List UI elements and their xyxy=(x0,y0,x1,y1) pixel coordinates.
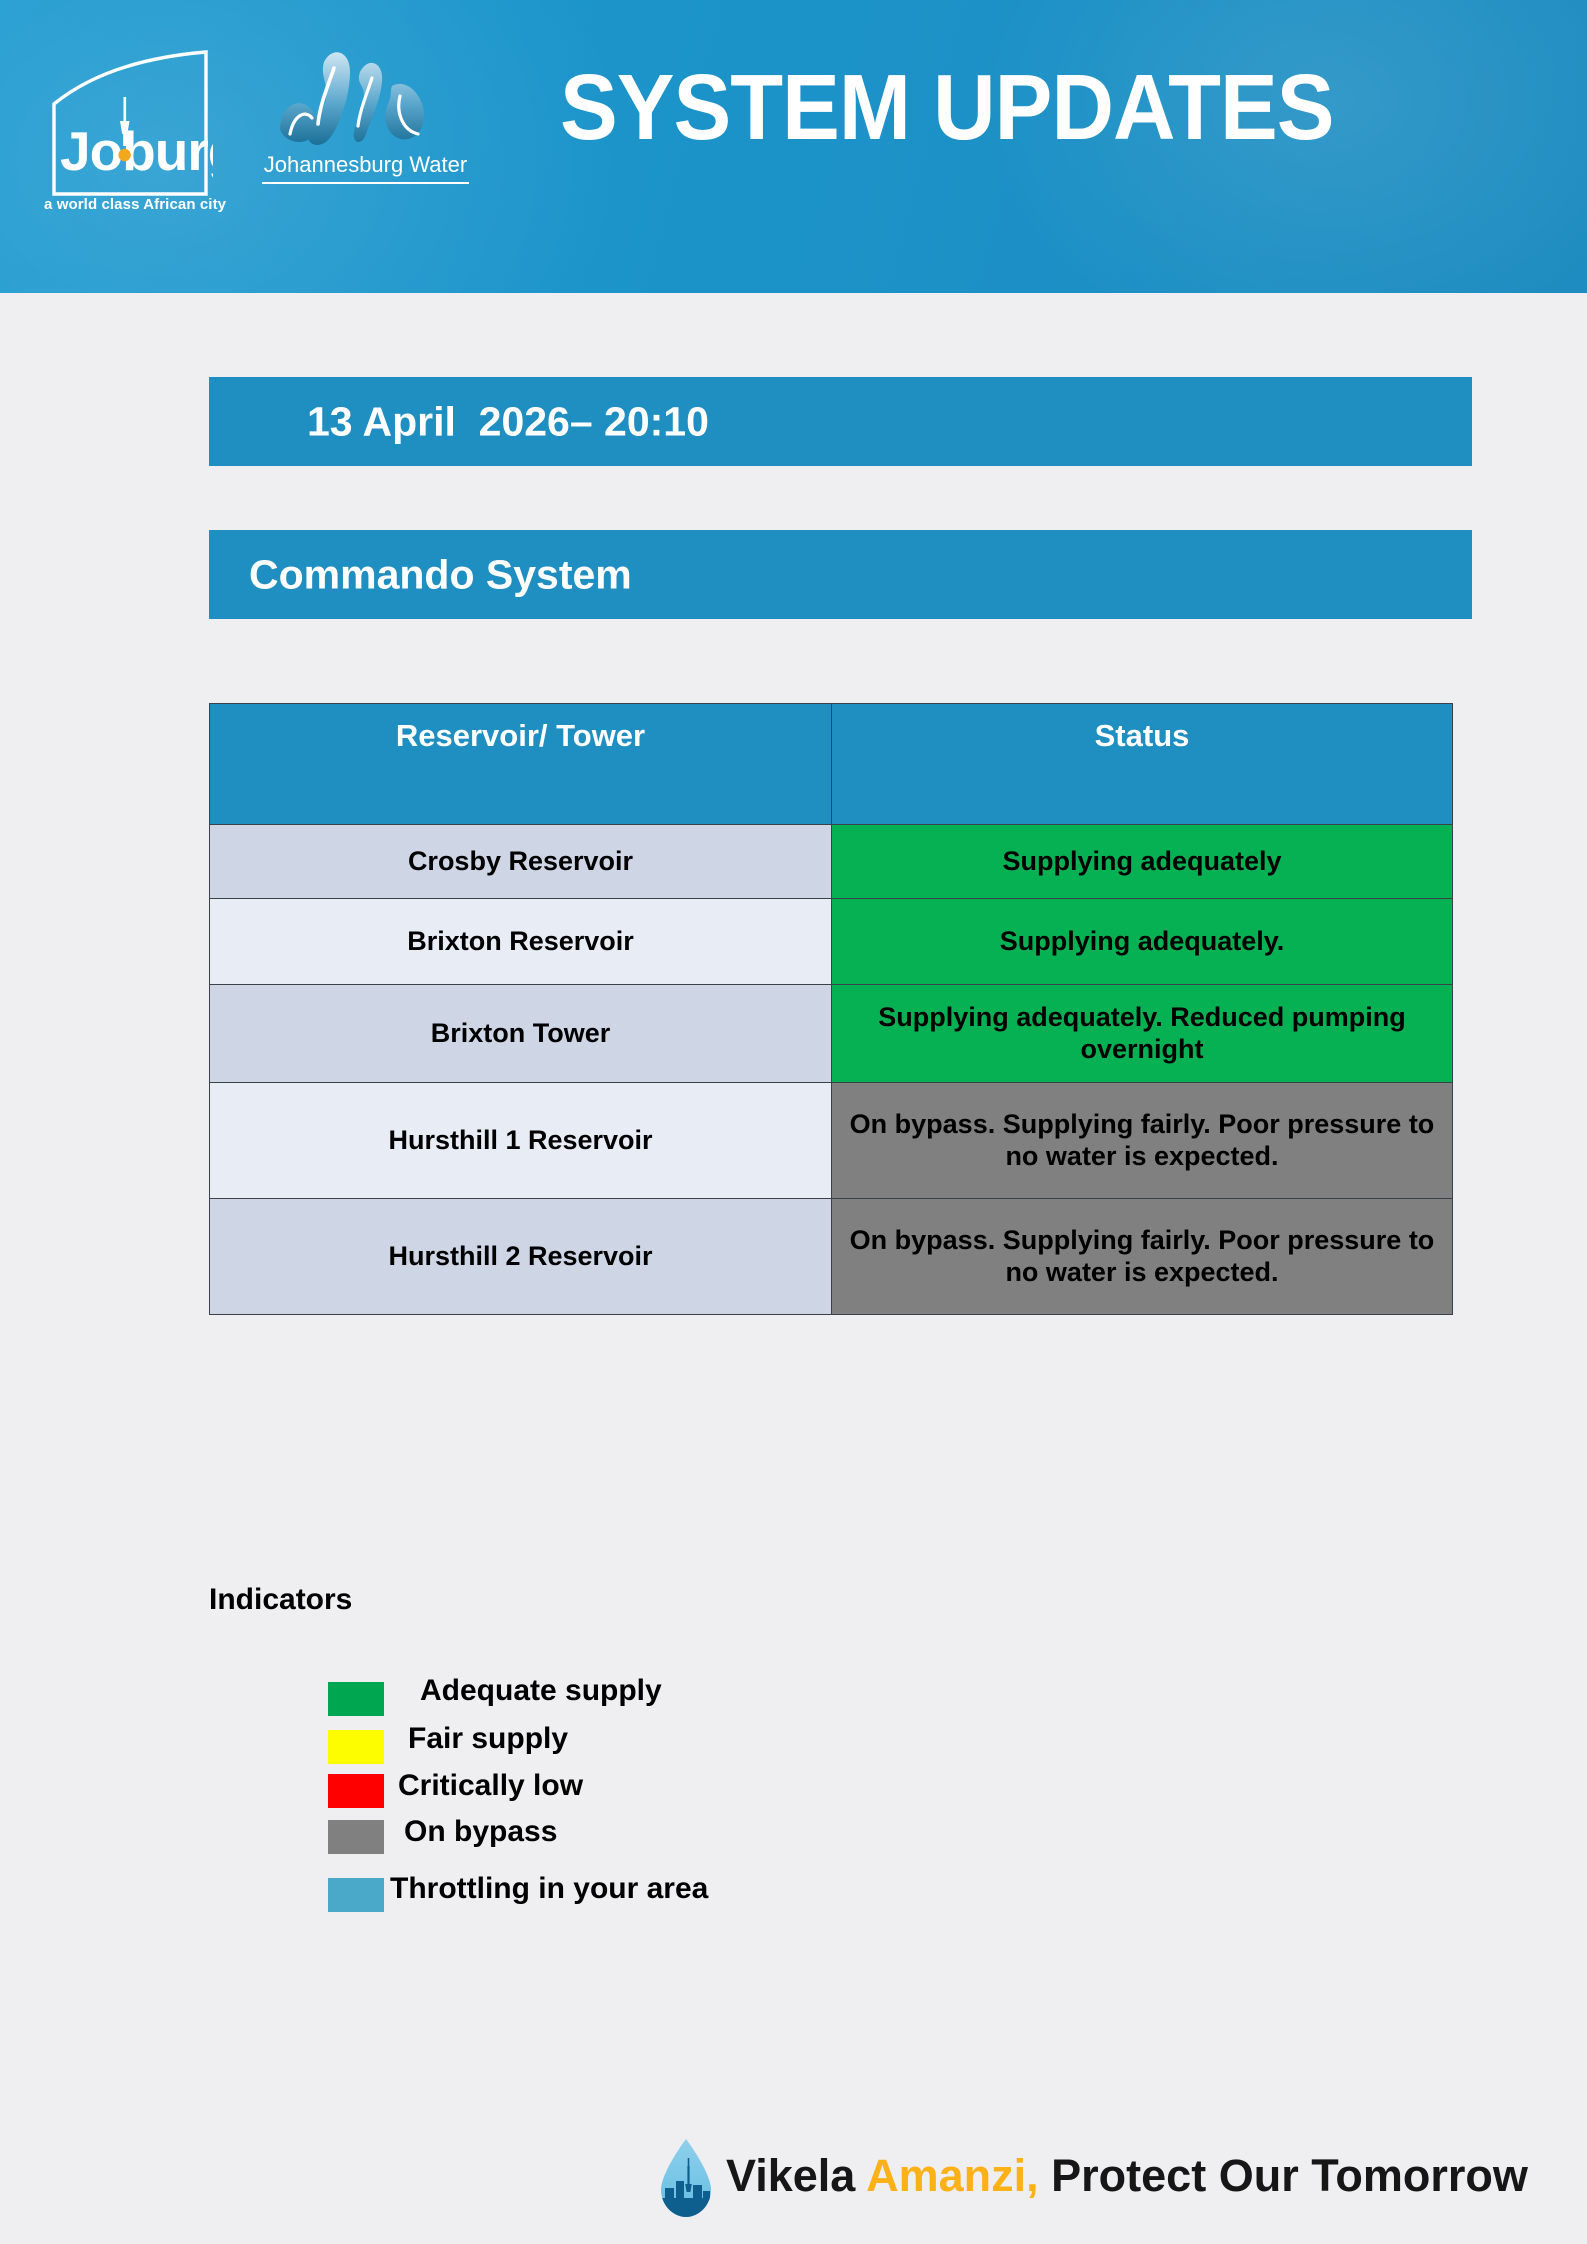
legend-swatch-critical xyxy=(328,1774,384,1808)
table-header-row: Reservoir/ Tower Status xyxy=(210,704,1453,825)
table-row: Hursthill 2 Reservoir On bypass. Supplyi… xyxy=(210,1199,1453,1315)
joburg-logo: Joburg xyxy=(38,42,213,202)
johannesburg-water-logo xyxy=(272,38,454,158)
legend-label-adequate: Adequate supply xyxy=(420,1674,662,1708)
date-banner-text: 13 April 2026– 20:10 xyxy=(307,398,709,445)
legend-swatch-adequate xyxy=(328,1682,384,1716)
johannesburg-water-underline xyxy=(262,182,469,184)
column-header-reservoir: Reservoir/ Tower xyxy=(210,704,832,825)
legend-swatch-fair xyxy=(328,1730,384,1764)
table-row: Brixton Reservoir Supplying adequately. xyxy=(210,899,1453,985)
footer-text-amanzi: Amanzi, xyxy=(866,2150,1039,2201)
reservoir-status: On bypass. Supplying fairly. Poor pressu… xyxy=(832,1199,1453,1315)
page-title: SYSTEM UPDATES xyxy=(560,52,1453,162)
page-header: Joburg a world class African city Johann… xyxy=(0,0,1587,293)
joburg-tagline: a world class African city xyxy=(44,196,244,213)
reservoir-status: Supplying adequately. Reduced pumping ov… xyxy=(832,985,1453,1083)
column-header-status: Status xyxy=(832,704,1453,825)
legend-swatch-throttling xyxy=(328,1878,384,1912)
reservoir-name: Brixton Tower xyxy=(210,985,832,1083)
reservoir-status: Supplying adequately. xyxy=(832,899,1453,985)
reservoir-name: Hursthill 1 Reservoir xyxy=(210,1083,832,1199)
footer-text-part2: Protect Our Tomorrow xyxy=(1039,2150,1528,2201)
svg-text:Joburg: Joburg xyxy=(60,120,213,182)
system-banner-text: Commando System xyxy=(249,551,632,598)
footer-text-part1: Vikela xyxy=(726,2150,866,2201)
reservoir-name: Brixton Reservoir xyxy=(210,899,832,985)
water-drop-skyline-icon xyxy=(655,2136,717,2222)
legend-label-fair: Fair supply xyxy=(408,1722,568,1756)
legend-swatch-bypass xyxy=(328,1820,384,1854)
reservoir-status: On bypass. Supplying fairly. Poor pressu… xyxy=(832,1083,1453,1199)
reservoir-name: Crosby Reservoir xyxy=(210,825,832,899)
legend-label-critical: Critically low xyxy=(398,1769,583,1803)
table-row: Hursthill 1 Reservoir On bypass. Supplyi… xyxy=(210,1083,1453,1199)
legend-label-bypass: On bypass xyxy=(404,1815,557,1849)
reservoir-status-table: Reservoir/ Tower Status Crosby Reservoir… xyxy=(209,703,1453,1315)
date-banner: 13 April 2026– 20:10 xyxy=(209,377,1472,466)
reservoir-status: Supplying adequately xyxy=(832,825,1453,899)
johannesburg-water-wordmark: Johannesburg Water xyxy=(258,152,473,178)
table-row: Brixton Tower Supplying adequately. Redu… xyxy=(210,985,1453,1083)
legend-label-throttling: Throttling in your area xyxy=(390,1872,708,1906)
indicators-title: Indicators xyxy=(209,1583,352,1617)
reservoir-name: Hursthill 2 Reservoir xyxy=(210,1199,832,1315)
system-banner: Commando System xyxy=(209,530,1472,619)
footer-tagline: Vikela Amanzi, Protect Our Tomorrow xyxy=(726,2150,1528,2202)
table-row: Crosby Reservoir Supplying adequately xyxy=(210,825,1453,899)
